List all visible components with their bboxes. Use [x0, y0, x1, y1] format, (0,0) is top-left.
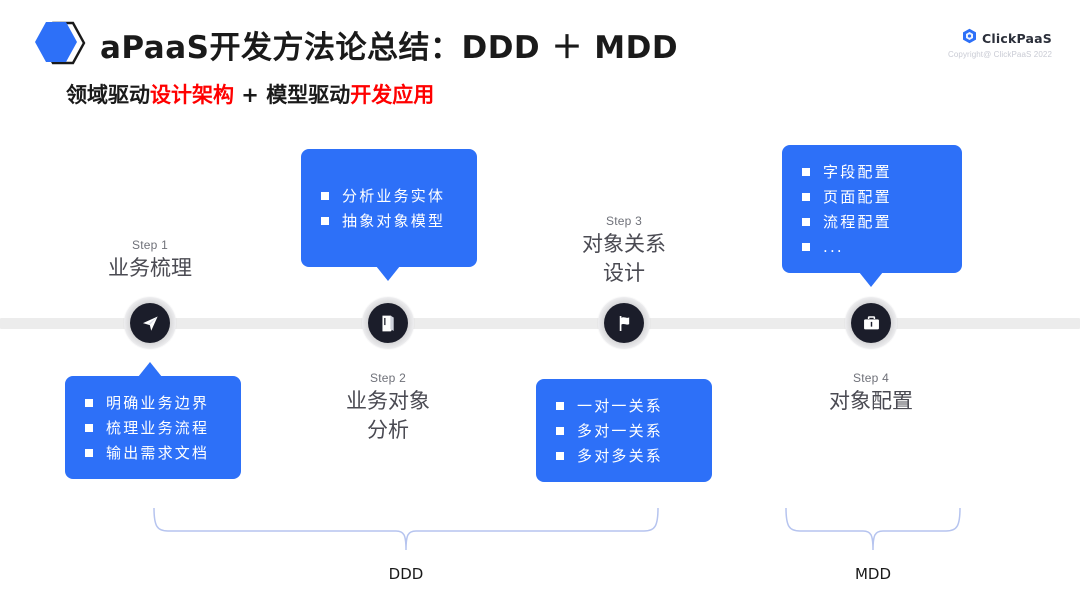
- bullet-icon: [85, 424, 93, 432]
- bullet-icon: [85, 399, 93, 407]
- page-subtitle: 领域驱动设计架构 + 模型驱动开发应用: [66, 79, 434, 109]
- step-name-2: 业务对象 分析: [318, 387, 458, 445]
- list-item: 梳理业务流程: [85, 415, 221, 440]
- brand-name: ClickPaaS: [982, 31, 1052, 46]
- callout-text: ...: [823, 238, 844, 256]
- step-number-2: Step 2: [318, 369, 458, 387]
- callout-text: 一对一关系: [577, 395, 663, 416]
- subtitle-part-4: 开发应用: [350, 83, 434, 107]
- callout-text: 分析业务实体: [342, 185, 445, 206]
- step-name-1: 业务梳理: [80, 254, 220, 283]
- bullet-icon: [802, 218, 810, 226]
- slide-canvas: aPaaS开发方法论总结：DDD ＋ MDD 领域驱动设计架构 + 模型驱动开发…: [0, 0, 1080, 608]
- hexagon-logo-icon: [31, 19, 89, 67]
- list-item: 输出需求文档: [85, 440, 221, 465]
- subtitle-part-3: + 模型驱动: [234, 83, 350, 107]
- bullet-icon: [85, 449, 93, 457]
- list-item: 多对多关系: [556, 443, 692, 468]
- subtitle-part-2: 设计架构: [150, 83, 234, 107]
- brace-label-ddd: DDD: [336, 565, 476, 583]
- brace-mdd: [782, 508, 964, 553]
- bullet-icon: [802, 193, 810, 201]
- callout-text: 多对一关系: [577, 420, 663, 441]
- bullet-icon: [556, 402, 564, 410]
- step-label-4: Step 4 对象配置: [801, 369, 941, 416]
- subtitle-part-1: 领域驱动: [66, 83, 150, 107]
- list-item: 流程配置: [802, 209, 942, 234]
- list-item: 分析业务实体: [321, 183, 457, 208]
- book-icon: [368, 303, 408, 343]
- step-name-4: 对象配置: [801, 387, 941, 416]
- callout-text: 明确业务边界: [106, 392, 209, 413]
- timeline-node-step-3[interactable]: [598, 297, 650, 349]
- brace-label-mdd: MDD: [803, 565, 943, 583]
- callout-step-4: 字段配置 页面配置 流程配置 ...: [782, 145, 962, 273]
- timeline-node-step-2[interactable]: [362, 297, 414, 349]
- brand-block: ClickPaaS Copyright@ ClickPaaS 2022: [948, 28, 1052, 59]
- bullet-icon: [556, 427, 564, 435]
- callout-text: 多对多关系: [577, 445, 663, 466]
- callout-step-2: 分析业务实体 抽象对象模型: [301, 149, 477, 267]
- callout-text: 抽象对象模型: [342, 210, 445, 231]
- list-item: ...: [802, 234, 942, 259]
- brace-ddd: [150, 508, 662, 553]
- callout-step-3: 一对一关系 多对一关系 多对多关系: [536, 379, 712, 482]
- step-name-3: 对象关系 设计: [554, 230, 694, 288]
- list-item: 明确业务边界: [85, 390, 221, 415]
- page-title: aPaaS开发方法论总结：DDD ＋ MDD: [100, 22, 678, 67]
- list-item: 页面配置: [802, 184, 942, 209]
- step-number-3: Step 3: [554, 212, 694, 230]
- flag-icon: [604, 303, 644, 343]
- step-label-1: Step 1 业务梳理: [80, 236, 220, 283]
- callout-text: 页面配置: [823, 186, 892, 207]
- callout-text: 字段配置: [823, 161, 892, 182]
- bullet-icon: [321, 192, 329, 200]
- bullet-icon: [556, 452, 564, 460]
- step-label-3: Step 3 对象关系 设计: [554, 212, 694, 288]
- briefcase-icon: [851, 303, 891, 343]
- callout-text: 流程配置: [823, 211, 892, 232]
- list-item: 一对一关系: [556, 393, 692, 418]
- send-icon: [130, 303, 170, 343]
- list-item: 抽象对象模型: [321, 208, 457, 233]
- bullet-icon: [802, 168, 810, 176]
- step-label-2: Step 2 业务对象 分析: [318, 369, 458, 445]
- callout-step-1: 明确业务边界 梳理业务流程 输出需求文档: [65, 376, 241, 479]
- callout-text: 梳理业务流程: [106, 417, 209, 438]
- callout-text: 输出需求文档: [106, 442, 209, 463]
- step-number-4: Step 4: [801, 369, 941, 387]
- list-item: 字段配置: [802, 159, 942, 184]
- timeline-node-step-1[interactable]: [124, 297, 176, 349]
- clickpaas-hexagon-icon: [962, 28, 977, 49]
- bullet-icon: [321, 217, 329, 225]
- bullet-icon: [802, 243, 810, 251]
- timeline-node-step-4[interactable]: [845, 297, 897, 349]
- copyright-text: Copyright@ ClickPaaS 2022: [948, 50, 1052, 59]
- step-number-1: Step 1: [80, 236, 220, 254]
- list-item: 多对一关系: [556, 418, 692, 443]
